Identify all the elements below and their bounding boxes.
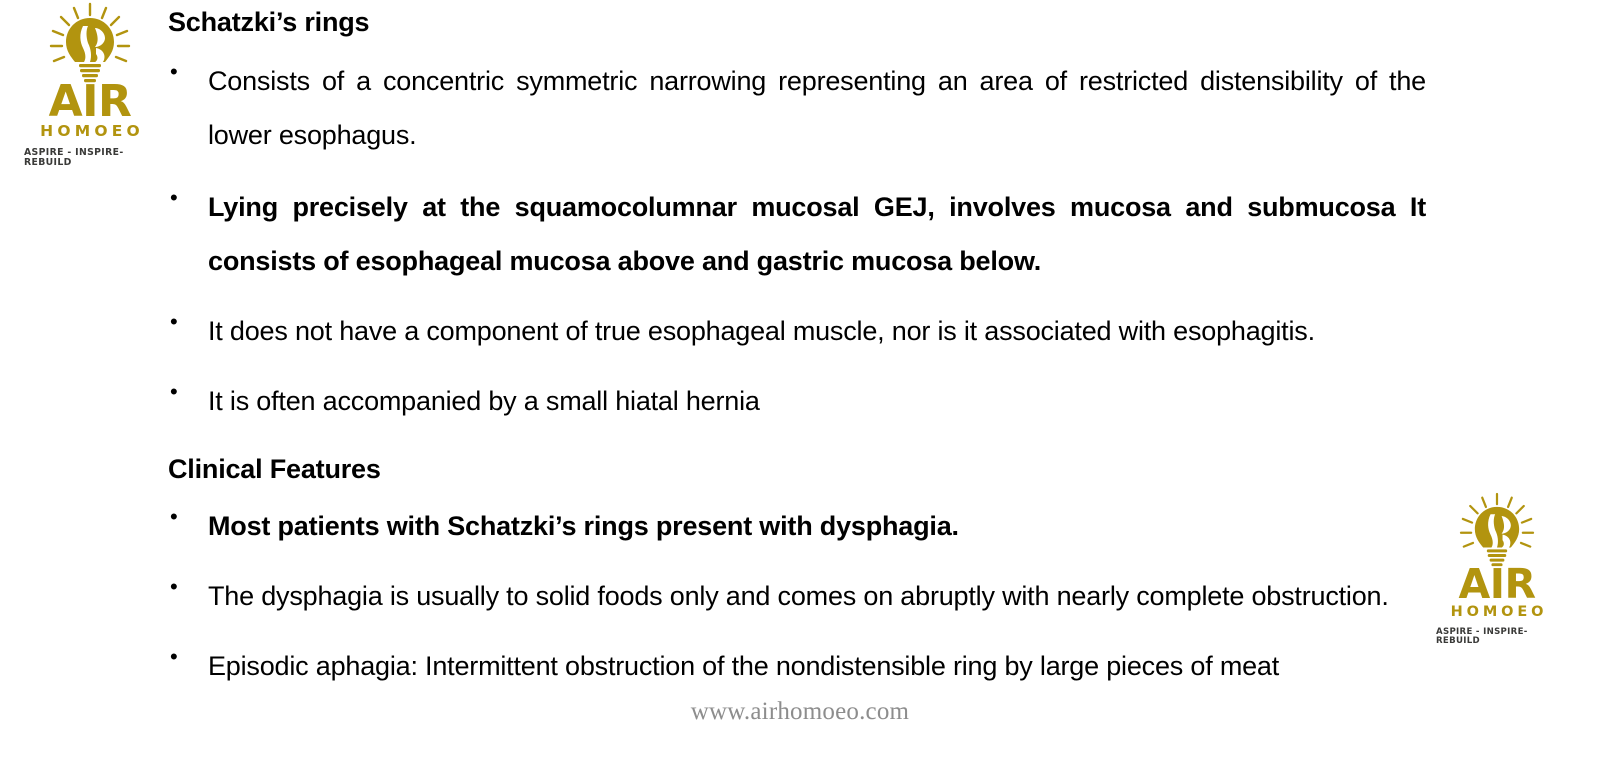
logo-wordmark: AIR	[49, 82, 132, 122]
list-item: • The dysphagia is usually to solid food…	[168, 553, 1426, 623]
brand-logo-bottom-right: AIR HOMOEO ASPIRE - INSPIRE- REBUILD	[1436, 492, 1558, 647]
section-heading-clinical-features: Clinical Features	[168, 428, 1426, 483]
lightbulb-with-figure-and-rays-icon	[38, 2, 142, 84]
logo-subword: HOMOEO	[36, 123, 144, 140]
bullet-marker-icon: •	[168, 180, 208, 216]
bullet-marker-icon: •	[168, 499, 208, 535]
bullet-marker-icon: •	[168, 304, 208, 340]
list-item: • It is often accompanied by a small hia…	[168, 358, 1426, 428]
bullet-text: It is often accompanied by a small hiata…	[208, 374, 1426, 428]
list-item: • Lying precisely at the squamocolumnar …	[168, 162, 1426, 288]
website-watermark: www.airhomoeo.com	[0, 698, 1600, 726]
bullet-marker-icon: •	[168, 374, 208, 410]
list-item: • It does not have a component of true e…	[168, 288, 1426, 358]
page-title: Schatzki’s rings	[168, 0, 1426, 36]
bullet-marker-icon: •	[168, 569, 208, 605]
slide-content: Schatzki’s rings • Consists of a concent…	[168, 0, 1426, 693]
lightbulb-with-figure-and-rays-icon	[1449, 492, 1545, 568]
bullet-text: The dysphagia is usually to solid foods …	[208, 569, 1426, 623]
list-item: • Most patients with Schatzki’s rings pr…	[168, 483, 1426, 553]
bullet-text: Lying precisely at the squamocolumnar mu…	[208, 180, 1426, 288]
logo-subword: HOMOEO	[1447, 605, 1548, 621]
slide-canvas: AIR HOMOEO ASPIRE - INSPIRE- REBUILD Sch…	[0, 0, 1600, 766]
bullet-text: Consists of a concentric symmetric narro…	[208, 54, 1426, 162]
bullet-text: It does not have a component of true eso…	[208, 304, 1426, 358]
bullet-text: Most patients with Schatzki’s rings pres…	[208, 499, 1426, 553]
logo-tagline: ASPIRE - INSPIRE- REBUILD	[24, 148, 156, 168]
list-item: • Consists of a concentric symmetric nar…	[168, 36, 1426, 162]
bullet-marker-icon: •	[168, 639, 208, 675]
bullet-text: Episodic aphagia: Intermittent obstructi…	[208, 639, 1426, 693]
logo-wordmark: AIR	[1458, 566, 1535, 604]
bullet-marker-icon: •	[168, 54, 208, 90]
list-item: • Episodic aphagia: Intermittent obstruc…	[168, 623, 1426, 693]
brand-logo-top-left: AIR HOMOEO ASPIRE - INSPIRE- REBUILD	[24, 2, 156, 168]
logo-tagline: ASPIRE - INSPIRE- REBUILD	[1436, 628, 1558, 647]
